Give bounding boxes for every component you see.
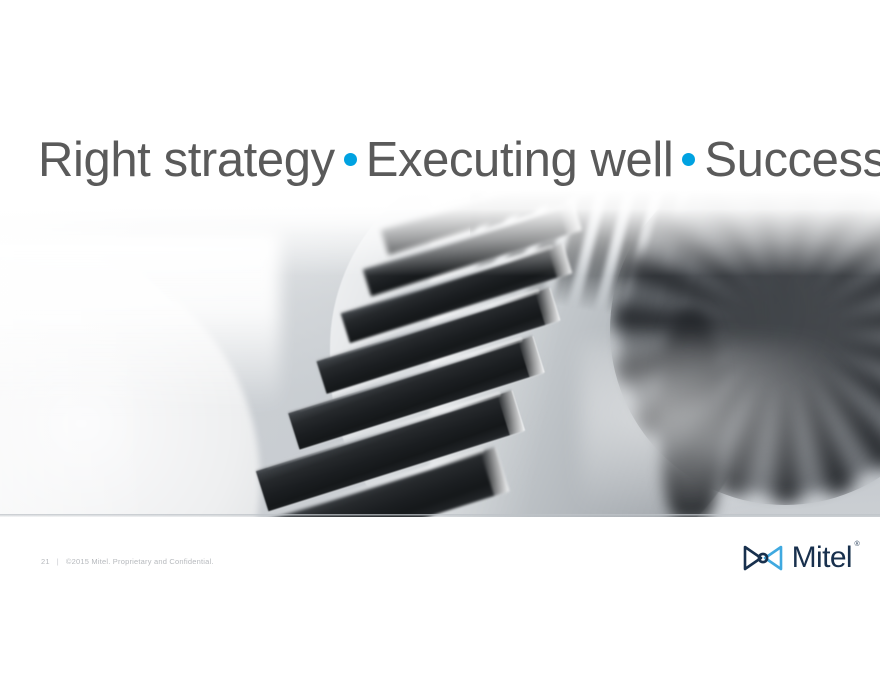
bullet-separator-icon — [682, 153, 695, 166]
slide-title: Right strategyExecuting wellSuccess — [38, 130, 848, 190]
title-part-first: Right strategy — [38, 133, 335, 187]
slide-footer: 21|©2015 Mitel. Proprietary and Confiden… — [41, 556, 214, 568]
mitel-wordmark: Mitel ® — [792, 543, 852, 573]
slide-canvas: Right strategyExecuting wellSuccess 21|©… — [0, 0, 880, 680]
hero-left-fade — [0, 230, 280, 410]
mitel-logo: Mitel ® — [743, 543, 852, 573]
copyright-notice: ©2015 Mitel. Proprietary and Confidentia… — [66, 557, 214, 566]
mitel-wordmark-text: Mitel — [792, 541, 852, 574]
registered-trademark-icon: ® — [854, 541, 859, 548]
hero-image — [0, 190, 880, 517]
mitel-bowtie-icon — [743, 545, 783, 571]
footer-separator: | — [57, 557, 59, 566]
title-part-third: Success — [704, 133, 880, 187]
page-number: 21 — [41, 557, 50, 566]
gear-right-glow — [580, 340, 880, 517]
bullet-separator-icon — [344, 153, 357, 166]
title-part-second: Executing well — [366, 133, 674, 187]
